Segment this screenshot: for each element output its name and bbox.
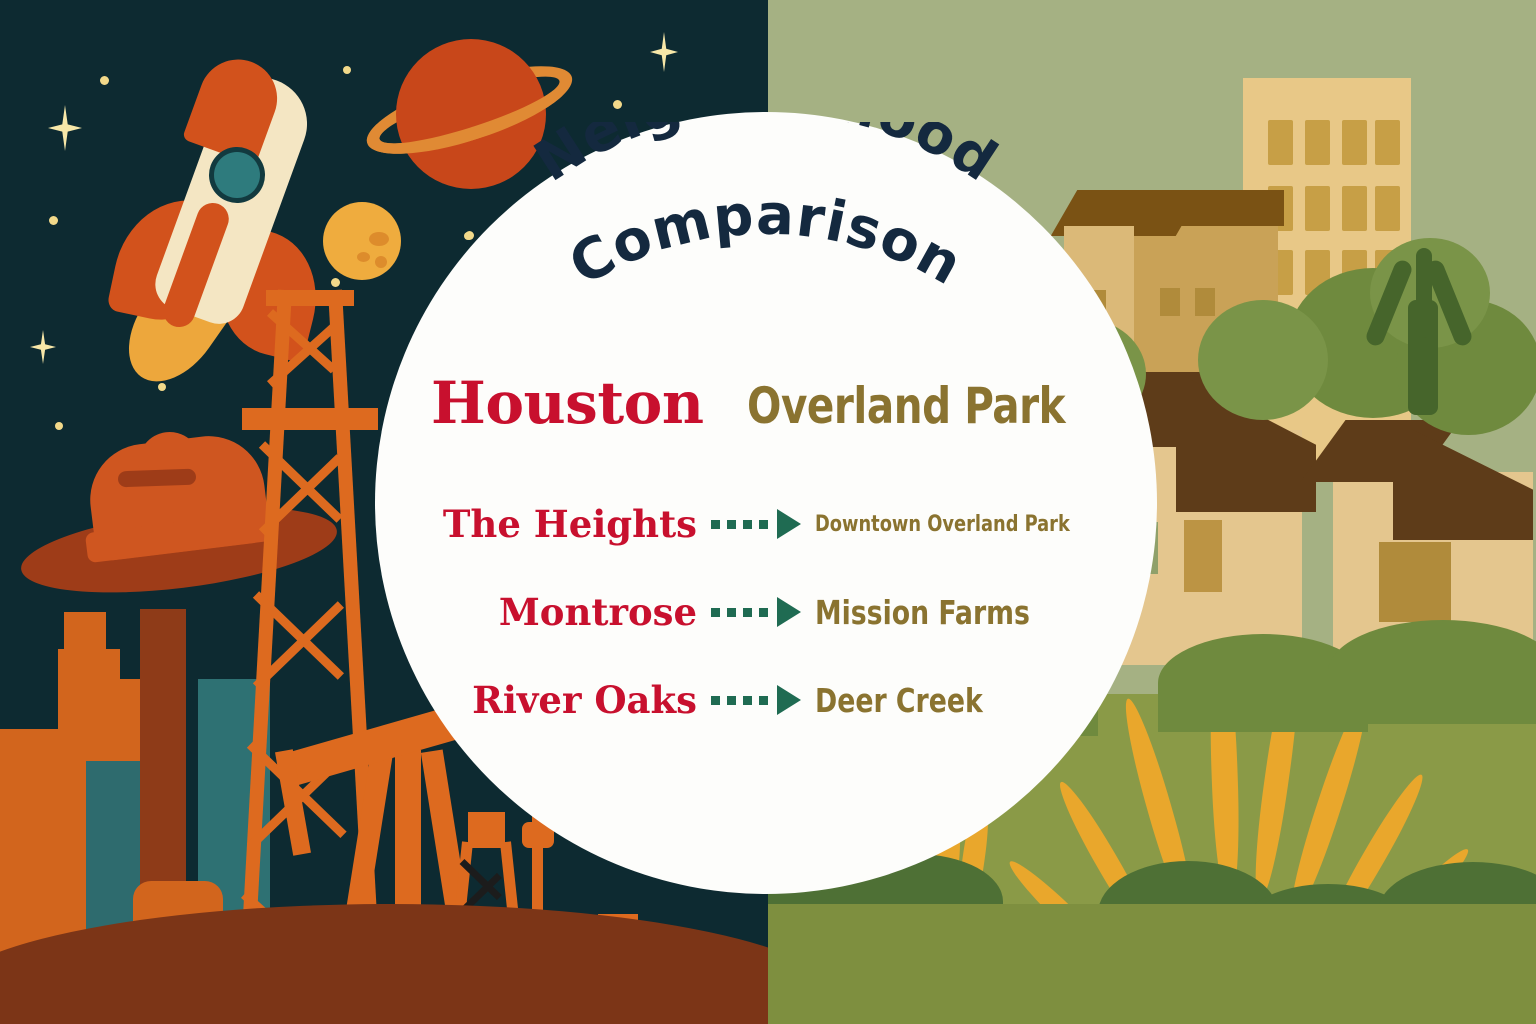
dot-icon (711, 520, 720, 529)
neighborhood-pair-row: The Heights Downtown Overland Park (375, 480, 1157, 568)
skyline-icon (64, 612, 106, 654)
triangle-arrow-icon (777, 685, 801, 715)
dot-icon (743, 520, 752, 529)
triangle-arrow-icon (777, 509, 801, 539)
star-icon (55, 422, 63, 430)
dot-icon (727, 608, 736, 617)
star-icon (30, 330, 56, 364)
dot-icon (727, 696, 736, 705)
dot-icon (711, 696, 720, 705)
star-icon (650, 32, 678, 72)
city-name-overland-park: Overland Park (747, 381, 1065, 431)
dot-icon (759, 608, 768, 617)
houston-neighborhood: River Oaks (397, 678, 697, 722)
dot-icon (759, 696, 768, 705)
arrow-connector-icon (711, 597, 801, 627)
ground-icon (768, 904, 1536, 1024)
dot-icon (711, 608, 720, 617)
overland-park-neighborhood: Deer Creek (815, 681, 1103, 720)
city-heading-row: Houston Overland Park (375, 374, 1157, 432)
title-line-2: Comparison (559, 182, 973, 298)
dot-icon (743, 608, 752, 617)
dot-icon (727, 520, 736, 529)
dot-icon (743, 696, 752, 705)
tree-icon (1416, 248, 1432, 338)
neighborhood-pair-row: River Oaks Deer Creek (375, 656, 1157, 744)
neighborhood-pairs-list: The Heights Downtown Overland Park Montr… (375, 480, 1157, 744)
page-title: Neighborhood Comparison (375, 122, 1157, 382)
houston-neighborhood: The Heights (397, 502, 697, 546)
dot-icon (759, 520, 768, 529)
overland-park-neighborhood: Mission Farms (815, 593, 1103, 632)
city-name-houston: Houston (431, 374, 703, 432)
neighborhood-pair-row: Montrose Mission Farms (375, 568, 1157, 656)
star-icon (158, 383, 166, 391)
poster-canvas: Neighborhood Comparison Houston Overland… (0, 0, 1536, 1024)
houston-neighborhood: Montrose (397, 590, 697, 634)
overland-park-neighborhood: Downtown Overland Park (815, 512, 1103, 537)
arrow-connector-icon (711, 685, 801, 715)
star-icon (613, 100, 622, 109)
center-content: Neighborhood Comparison Houston Overland… (375, 112, 1157, 894)
star-icon (49, 216, 58, 225)
triangle-arrow-icon (777, 597, 801, 627)
bush-icon (1328, 620, 1536, 724)
tree-icon (1198, 300, 1328, 420)
arrow-connector-icon (711, 509, 801, 539)
